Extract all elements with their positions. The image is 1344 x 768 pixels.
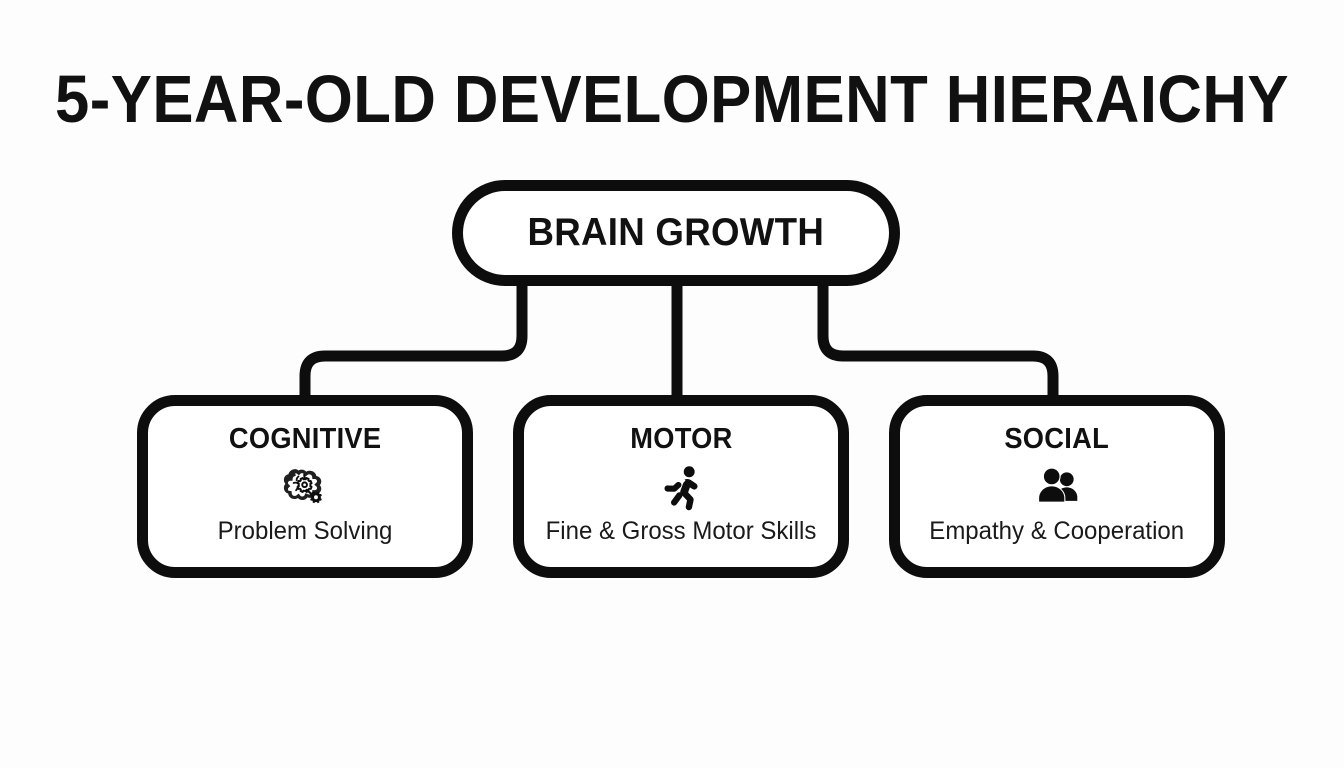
diagram-canvas: 5-YEAR-OLD DEVELOPMENT HIERAICHY BRAIN G… xyxy=(0,0,1344,768)
running-person-icon xyxy=(656,461,706,513)
page-title: 5-YEAR-OLD DEVELOPMENT HIERAICHY xyxy=(54,64,1290,136)
connector-root-to-cognitive xyxy=(305,286,522,400)
node-social-label: SOCIAL xyxy=(1005,423,1110,455)
node-cognitive-subtitle: Problem Solving xyxy=(218,517,393,545)
node-cognitive-label: COGNITIVE xyxy=(229,423,381,455)
node-brain-growth-label: BRAIN GROWTH xyxy=(528,212,825,254)
node-motor-subtitle: Fine & Gross Motor Skills xyxy=(546,517,817,545)
node-motor[interactable]: MOTOR Fine & Gross Motor Skills xyxy=(513,395,849,578)
node-cognitive[interactable]: COGNITIVE Problem Solving xyxy=(137,395,473,578)
brain-gears-icon xyxy=(279,461,331,513)
two-people-icon xyxy=(1031,461,1083,513)
node-brain-growth[interactable]: BRAIN GROWTH xyxy=(452,180,900,286)
node-social-subtitle: Empathy & Cooperation xyxy=(930,517,1185,545)
node-social[interactable]: SOCIAL Empathy & Cooperation xyxy=(889,395,1225,578)
connector-root-to-social xyxy=(823,286,1053,400)
node-motor-label: MOTOR xyxy=(630,423,732,455)
